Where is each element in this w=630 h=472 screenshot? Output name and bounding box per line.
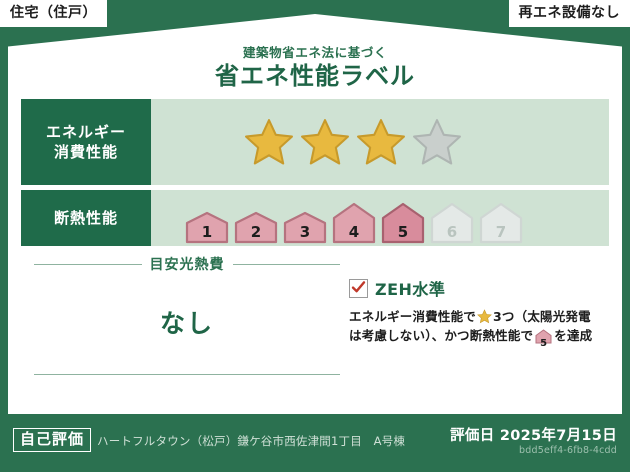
header-subtitle: 建築物省エネ法に基づく bbox=[8, 47, 622, 60]
grade-value: 3 bbox=[283, 225, 327, 240]
evaluation-hash: bdd5eff4-6fb8-4cdd bbox=[519, 445, 617, 456]
insulation-grade-5: 5 bbox=[381, 202, 425, 244]
grade-value: 7 bbox=[479, 225, 523, 240]
heading-rule-left bbox=[34, 264, 142, 265]
insulation-grade-scale: 1234567 bbox=[151, 188, 523, 249]
evaluation-date-value: 2025年7月15日 bbox=[500, 428, 617, 444]
utility-cost-value: なし bbox=[34, 274, 340, 374]
badge-dwelling-type: 住宅（住戸） bbox=[0, 0, 107, 27]
star-filled-icon bbox=[299, 117, 351, 167]
inline-grade-badge: 5 bbox=[535, 329, 552, 349]
insulation-grade-3: 3 bbox=[283, 211, 327, 244]
utility-cost-block: 目安光熱費 なし bbox=[34, 254, 340, 375]
heading-rule-right bbox=[233, 264, 341, 265]
grade-value: 4 bbox=[332, 225, 376, 240]
zeh-desc-star-count: 3つ（太陽光発電 bbox=[493, 309, 591, 324]
utility-cost-heading-text: 目安光熱費 bbox=[150, 254, 225, 274]
star-filled-icon bbox=[243, 117, 295, 167]
zeh-checkbox[interactable] bbox=[349, 279, 368, 298]
inline-grade-value: 5 bbox=[535, 339, 552, 349]
insulation-grade-7: 7 bbox=[479, 202, 523, 244]
grade-value: 6 bbox=[430, 225, 474, 240]
insulation-performance-row: 断熱性能 1234567 bbox=[21, 190, 609, 246]
zeh-description: エネルギー消費性能で3つ（太陽光発電 は考慮しない）、かつ断熱性能で5を達成 bbox=[349, 307, 617, 350]
zeh-desc-part1: エネルギー消費性能で bbox=[349, 309, 476, 324]
energy-label-line1: エネルギー bbox=[46, 122, 126, 142]
energy-performance-label: エネルギー 消費性能 bbox=[21, 99, 151, 185]
utility-cost-heading: 目安光熱費 bbox=[34, 254, 340, 274]
star-rating bbox=[151, 117, 463, 167]
zeh-heading: ZEH水準 bbox=[349, 276, 617, 300]
insulation-grade-2: 2 bbox=[234, 211, 278, 244]
self-evaluation-badge: 自己評価 bbox=[13, 428, 91, 452]
insulation-grade-6: 6 bbox=[430, 202, 474, 244]
insulation-performance-value: 1234567 bbox=[151, 190, 609, 246]
header-title: 省エネ性能ラベル bbox=[8, 64, 622, 88]
star-filled-icon bbox=[355, 117, 407, 167]
utility-cost-divider bbox=[34, 374, 340, 375]
card-footer: 自己評価 ハートフルタウン（松戸）鎌ケ谷市西佐津間1丁目 A号棟 評価日 202… bbox=[0, 414, 630, 472]
insulation-performance-label: 断熱性能 bbox=[21, 190, 151, 246]
evaluation-date-label: 評価日 bbox=[450, 428, 494, 444]
badge-renewable-equipment: 再エネ設備なし bbox=[509, 0, 630, 27]
evaluation-date: 評価日 2025年7月15日 bbox=[450, 424, 617, 445]
energy-label-line2: 消費性能 bbox=[54, 142, 118, 162]
zeh-title: ZEH水準 bbox=[375, 276, 445, 300]
zeh-desc-part3: を達成 bbox=[554, 328, 592, 343]
label-panel: エネルギー 消費性能 断熱性能 1234567 目安光熱費 なし bbox=[8, 88, 622, 414]
insulation-label-text: 断熱性能 bbox=[54, 208, 118, 228]
star-empty-icon bbox=[411, 117, 463, 167]
grade-value: 2 bbox=[234, 225, 278, 240]
zeh-block: ZEH水準 エネルギー消費性能で3つ（太陽光発電 は考慮しない）、かつ断熱性能で… bbox=[349, 276, 617, 350]
energy-label-card: 住宅（住戸） 再エネ設備なし 建築物省エネ法に基づく 省エネ性能ラベル エネルギ… bbox=[0, 0, 630, 472]
grade-value: 1 bbox=[185, 225, 229, 240]
energy-performance-row: エネルギー 消費性能 bbox=[21, 99, 609, 185]
zeh-desc-part2: は考慮しない）、かつ断熱性能で bbox=[349, 328, 533, 343]
energy-performance-value bbox=[151, 99, 609, 185]
star-icon bbox=[477, 309, 492, 324]
grade-value: 5 bbox=[381, 225, 425, 240]
insulation-grade-4: 4 bbox=[332, 202, 376, 244]
insulation-grade-1: 1 bbox=[185, 211, 229, 244]
check-icon bbox=[351, 280, 366, 295]
property-address: ハートフルタウン（松戸）鎌ケ谷市西佐津間1丁目 A号棟 bbox=[97, 433, 405, 449]
